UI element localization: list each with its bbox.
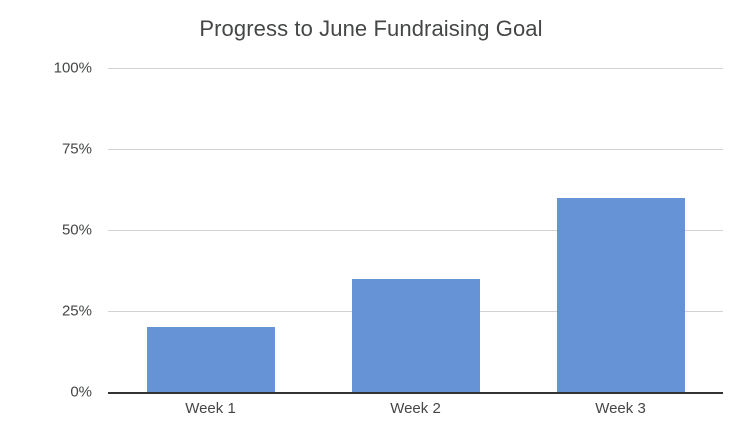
bar-slot-week-1 (108, 68, 313, 392)
y-axis: 0% 25% 50% 75% 100% (0, 68, 92, 392)
x-axis-label-week-2: Week 2 (313, 398, 518, 420)
bar-week-2[interactable] (352, 279, 480, 392)
x-axis-label-week-1: Week 1 (108, 398, 313, 420)
x-axis: Week 1 Week 2 Week 3 (108, 398, 723, 426)
bar-slot-week-3 (518, 68, 723, 392)
chart-title: Progress to June Fundraising Goal (0, 15, 742, 43)
x-axis-label-week-3: Week 3 (518, 398, 723, 420)
y-axis-tick-75: 75% (0, 142, 92, 157)
bar-chart: Progress to June Fundraising Goal 0% 25%… (0, 0, 742, 441)
y-axis-tick-25: 25% (0, 304, 92, 319)
bar-week-3[interactable] (557, 198, 685, 392)
y-axis-tick-100: 100% (0, 61, 92, 76)
y-axis-tick-50: 50% (0, 223, 92, 238)
bar-series (108, 68, 723, 392)
y-axis-tick-0: 0% (0, 385, 92, 400)
bar-week-1[interactable] (147, 327, 275, 392)
bar-slot-week-2 (313, 68, 518, 392)
axis-baseline (108, 392, 723, 394)
